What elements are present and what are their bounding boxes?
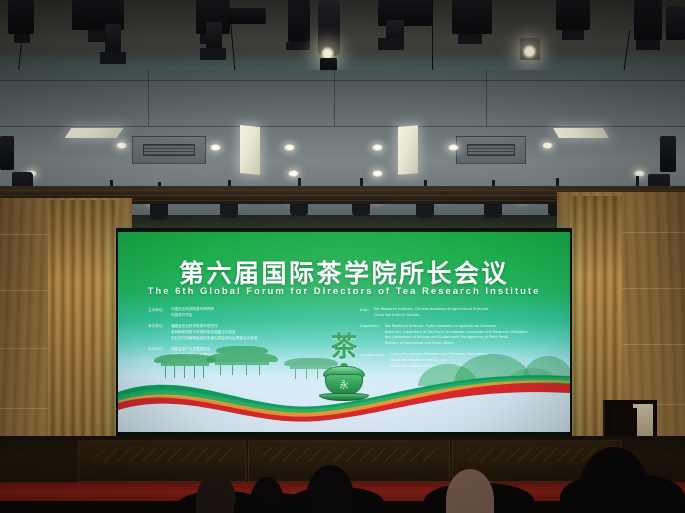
stage-light-fixture xyxy=(666,6,685,40)
apron-zigzag-trim xyxy=(92,448,232,462)
recessed-downlight xyxy=(210,144,221,151)
bowl-leaf-glyph: 永 xyxy=(339,378,348,391)
apron-zigzag-trim xyxy=(466,448,608,462)
stage-light-fixture xyxy=(206,22,222,50)
beam-slat xyxy=(0,190,685,191)
lit-lamp xyxy=(522,44,537,59)
stage-light-fixture xyxy=(8,0,34,34)
fixture-base xyxy=(100,52,126,64)
credit-line: Tea Research Institute, Chinese Academy … xyxy=(374,307,489,312)
stage-light-fixture xyxy=(634,0,662,40)
vent-grille xyxy=(467,144,516,156)
lighting-truss xyxy=(0,0,685,76)
credit-line: State Key Laboratory of Tea Plant Germpl… xyxy=(385,330,528,335)
fixture-base xyxy=(458,34,482,44)
recessed-downlight xyxy=(448,144,459,151)
credit-label: 主办单位： xyxy=(148,307,166,318)
cha-character: 茶 xyxy=(312,334,376,361)
fixture-base xyxy=(636,40,660,50)
linear-troffer-light xyxy=(553,128,609,138)
air-conditioning-vent xyxy=(132,136,206,164)
credit-line: 中国农业科学院茶叶研究所 xyxy=(171,307,214,312)
recessed-downlight xyxy=(372,170,383,177)
apron-zigzag-trim xyxy=(262,448,436,462)
linear-troffer-light xyxy=(240,125,260,175)
led-screen-bezel: 第六届国际茶学院所长会议 The 6th Global Forum for Di… xyxy=(116,228,572,436)
ceiling-seam xyxy=(148,70,149,126)
wall-speaker xyxy=(660,136,676,172)
stage-light-fixture xyxy=(288,0,310,42)
recessed-downlight xyxy=(116,142,127,149)
stage-light-fixture xyxy=(452,0,492,34)
credit-label: Host: xyxy=(360,307,369,318)
credit-lines: 中国农业科学院茶叶研究所 中国茶叶学会 xyxy=(171,307,214,318)
credit-line: Fujian Tea Industry Development Promotio… xyxy=(390,352,487,357)
pavilion-roof xyxy=(206,352,278,362)
stage-light-fixture xyxy=(386,20,404,40)
credit-label: 承办单位： xyxy=(148,324,166,341)
stage-light-fixture xyxy=(226,8,266,24)
gaiwan-tea-bowl-logo: 茶 永 xyxy=(312,334,376,408)
credit-block: 承办单位： 福建省农业科学院茶叶研究所 茶树种质创新与资源利用全国重点实验室 农… xyxy=(148,324,328,341)
credit-line: 福建省农业科学院茶叶研究所 xyxy=(171,324,257,329)
recessed-downlight xyxy=(372,144,383,151)
linear-troffer-light xyxy=(65,128,124,138)
ceiling-seam xyxy=(0,126,685,127)
ceiling-seam xyxy=(486,70,487,126)
recessed-downlight xyxy=(288,170,299,177)
fixture-base xyxy=(378,38,404,50)
recessed-downlight xyxy=(542,142,553,149)
curtain-shading xyxy=(48,200,116,468)
vent-grille xyxy=(143,144,195,156)
credit-line: Key Laboratory of Biology and Sustainabl… xyxy=(385,335,528,340)
credit-block: 主办单位： 中国农业科学院茶叶研究所 中国茶叶学会 xyxy=(148,307,328,318)
fixture-base xyxy=(562,30,584,40)
fixture-base xyxy=(286,42,310,50)
conference-title-english: The 6th Global Forum for Directors of Te… xyxy=(118,286,570,297)
conference-hall-photo: 第六届国际茶学院所长会议 The 6th Global Forum for Di… xyxy=(0,0,685,513)
credit-lines: Tea Research Institute, Fujian Academy o… xyxy=(385,324,528,346)
credit-line: China Tea Science Society xyxy=(374,313,489,318)
credit-line: Tea Research Institute, Fujian Academy o… xyxy=(385,324,528,329)
led-screen[interactable]: 第六届国际茶学院所长会议 The 6th Global Forum for Di… xyxy=(118,232,570,432)
credit-block: Organizers: Tea Research Institute, Fuji… xyxy=(360,324,540,346)
credit-lines: Tea Research Institute, Chinese Academy … xyxy=(374,307,489,318)
gold-pleated-curtain-left xyxy=(48,200,116,468)
air-conditioning-vent xyxy=(456,136,526,164)
credit-lines: 福建省农业科学院茶叶研究所 茶树种质创新与资源利用全国重点实验室 农业农村部植物… xyxy=(171,324,257,341)
credit-line: Ministry of Agriculture and Rural Affair… xyxy=(385,341,528,346)
linear-troffer-light xyxy=(398,125,418,174)
power-cable xyxy=(432,0,433,76)
credit-block: Host: Tea Research Institute, Chinese Ac… xyxy=(360,307,540,318)
recessed-downlight xyxy=(284,144,295,151)
credit-line: 农业农村部植物检疫性有害生物监测与治理重点实验室 xyxy=(171,336,257,341)
credit-line: 中国茶叶学会 xyxy=(171,313,214,318)
credit-line: 茶树种质创新与资源利用全国重点实验室 xyxy=(171,330,257,335)
ceiling-seam xyxy=(0,80,685,81)
ceiling-seam xyxy=(334,70,335,126)
fixture-base xyxy=(200,48,226,60)
conference-title-chinese: 第六届国际茶学院所长会议 xyxy=(118,254,570,290)
bowl-saucer xyxy=(319,393,369,401)
stage-light-fixture xyxy=(556,0,590,30)
wall-speaker xyxy=(0,136,14,170)
